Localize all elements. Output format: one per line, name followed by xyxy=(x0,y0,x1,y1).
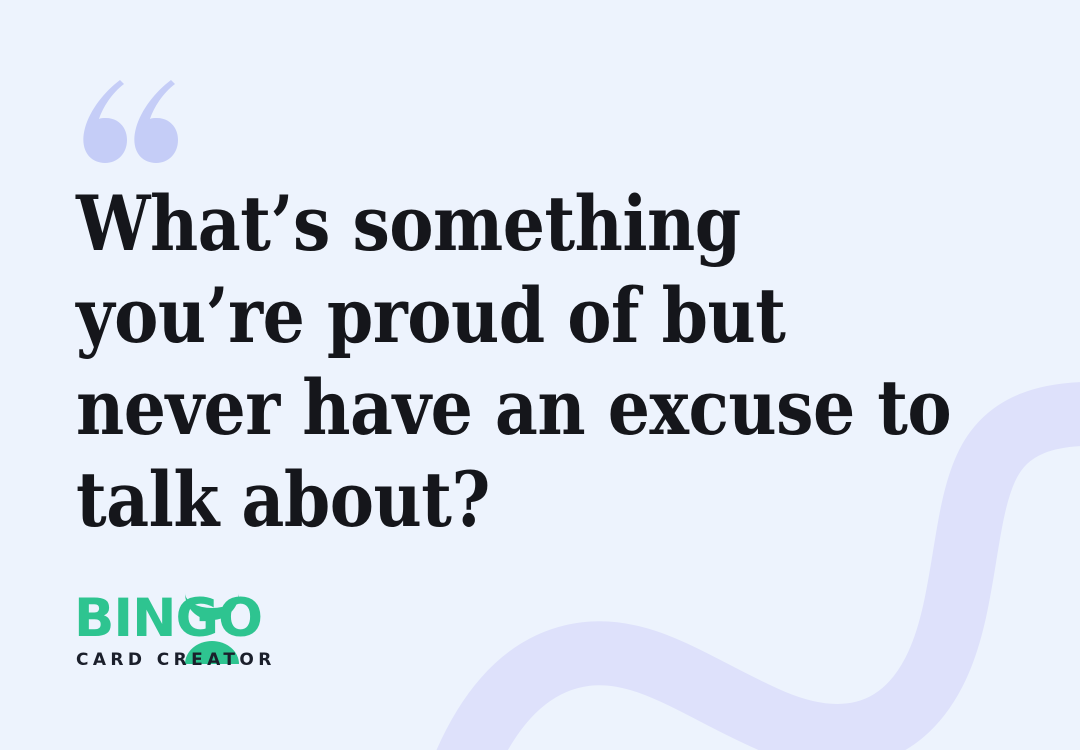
quote-line-4: talk about? xyxy=(76,454,978,546)
quote-text: What’s something you’re proud of but nev… xyxy=(76,178,1006,546)
quote-line-1: What’s something xyxy=(76,178,978,270)
brand-logo: BINGO CARD CREATOR xyxy=(74,592,314,684)
quote-glyph-left xyxy=(83,80,127,163)
logo-tagline: CARD CREATOR xyxy=(76,650,276,670)
quote-glyph-right xyxy=(134,80,178,163)
logo-mark: BINGO xyxy=(74,592,246,650)
quote-mark-icon xyxy=(76,74,186,164)
quote-line-3: never have an excuse to xyxy=(76,362,978,454)
quote-line-2: you’re proud of but xyxy=(76,270,978,362)
quote-card: What’s something you’re proud of but nev… xyxy=(0,0,1080,750)
logo-wordmark: BINGO xyxy=(74,590,262,648)
